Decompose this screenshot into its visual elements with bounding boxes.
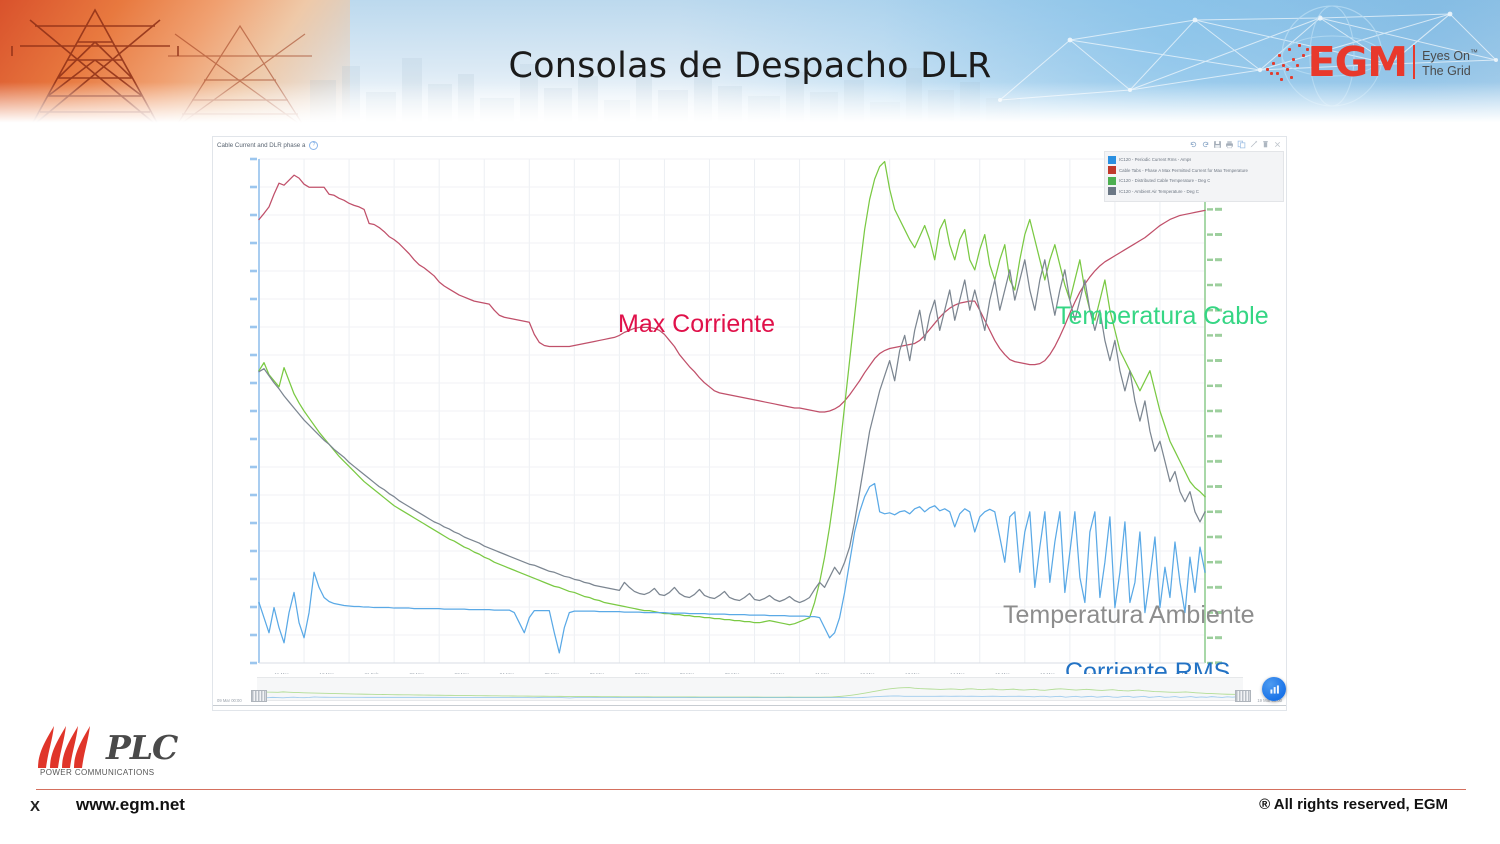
legend-swatch [1108, 177, 1116, 185]
footer-divider [36, 789, 1466, 790]
range-selector-minimap[interactable] [257, 678, 1243, 700]
legend-swatch [1108, 187, 1116, 195]
range-selector[interactable]: 09 Mar 00:00 19 Mar 00:00 [213, 674, 1286, 704]
legend-item[interactable]: IC120 - Ambient Air Temperature - Deg C [1108, 187, 1280, 196]
legend-swatch [1108, 166, 1116, 174]
legend-item[interactable]: Cable Tabs - Phase A Max Permitted Curre… [1108, 166, 1280, 175]
egm-tagline-line1: Eyes On [1422, 50, 1470, 64]
range-selector-track[interactable] [257, 677, 1243, 701]
legend-label: IC120 - Ambient Air Temperature - Deg C [1119, 189, 1199, 194]
chart-panel-title: Cable Current and DLR phase a [217, 142, 305, 149]
chart-zoom-icon [1268, 683, 1281, 696]
redo-icon[interactable] [1201, 140, 1210, 149]
copy-icon[interactable] [1237, 140, 1246, 149]
save-icon[interactable] [1213, 140, 1222, 149]
egm-dots-icon [1264, 42, 1310, 82]
help-icon[interactable]: ? [309, 141, 318, 150]
edit-icon[interactable] [1249, 140, 1258, 149]
plc-subtitle: POWER COMMUNICATIONS [40, 768, 155, 777]
print-icon[interactable] [1225, 140, 1234, 149]
copyright-text: ® All rights reserved, EGM [1259, 796, 1448, 813]
legend-item[interactable]: IC120 - Distributed Cable Temperature - … [1108, 176, 1280, 185]
panel-baseline [213, 705, 1286, 706]
website-link[interactable]: www.egm.net [76, 795, 185, 815]
legend-label: Cable Tabs - Phase A Max Permitted Curre… [1119, 168, 1248, 173]
egm-divider [1413, 45, 1415, 79]
trademark-mark: ™ [1470, 48, 1478, 57]
annotation-temperatura-ambiente: Temperatura Ambiente [1003, 601, 1255, 630]
egm-logo: EGM Eyes On™ The Grid [1264, 33, 1478, 91]
delete-icon[interactable] [1261, 140, 1270, 149]
undo-icon[interactable] [1189, 140, 1198, 149]
egm-tagline-line2: The Grid [1422, 64, 1478, 78]
legend-item[interactable]: IC120 - Periodic Current Rms - Amps [1108, 155, 1280, 164]
legend-label: IC120 - Periodic Current Rms - Amps [1119, 157, 1191, 162]
plc-wordmark: PLC [106, 728, 177, 767]
egm-tagline: Eyes On™ The Grid [1422, 46, 1478, 77]
plc-flame-icon [32, 722, 106, 772]
chart-plot-area[interactable]: 11 Mar12 Mar21 Feb02 Mar03 Mar04 Mar05 M… [213, 153, 1286, 813]
close-icon[interactable] [1273, 140, 1282, 149]
close-mark[interactable]: X [30, 798, 40, 815]
chart-legend[interactable]: IC120 - Periodic Current Rms - Amps Cabl… [1104, 151, 1284, 202]
annotation-max-corriente: Max Corriente [618, 310, 775, 339]
header-banner: Consolas de Despacho DLR EGM Eyes On™ Th… [0, 0, 1500, 128]
chart-zoom-button[interactable] [1262, 677, 1286, 701]
egm-wordmark: EGM [1308, 43, 1407, 81]
range-start-label: 09 Mar 00:00 [217, 698, 242, 703]
chart-panel: Cable Current and DLR phase a ? IC120 - … [212, 136, 1287, 711]
legend-label: IC120 - Distributed Cable Temperature - … [1119, 178, 1210, 183]
legend-swatch [1108, 156, 1116, 164]
plc-logo: PLC POWER COMMUNICATIONS [32, 722, 232, 784]
range-handle-left[interactable] [251, 690, 267, 702]
annotation-temperatura-cable: Temperatura Cable [1056, 302, 1269, 331]
chart-toolbar[interactable] [1189, 140, 1282, 149]
range-handle-right[interactable] [1235, 690, 1251, 702]
